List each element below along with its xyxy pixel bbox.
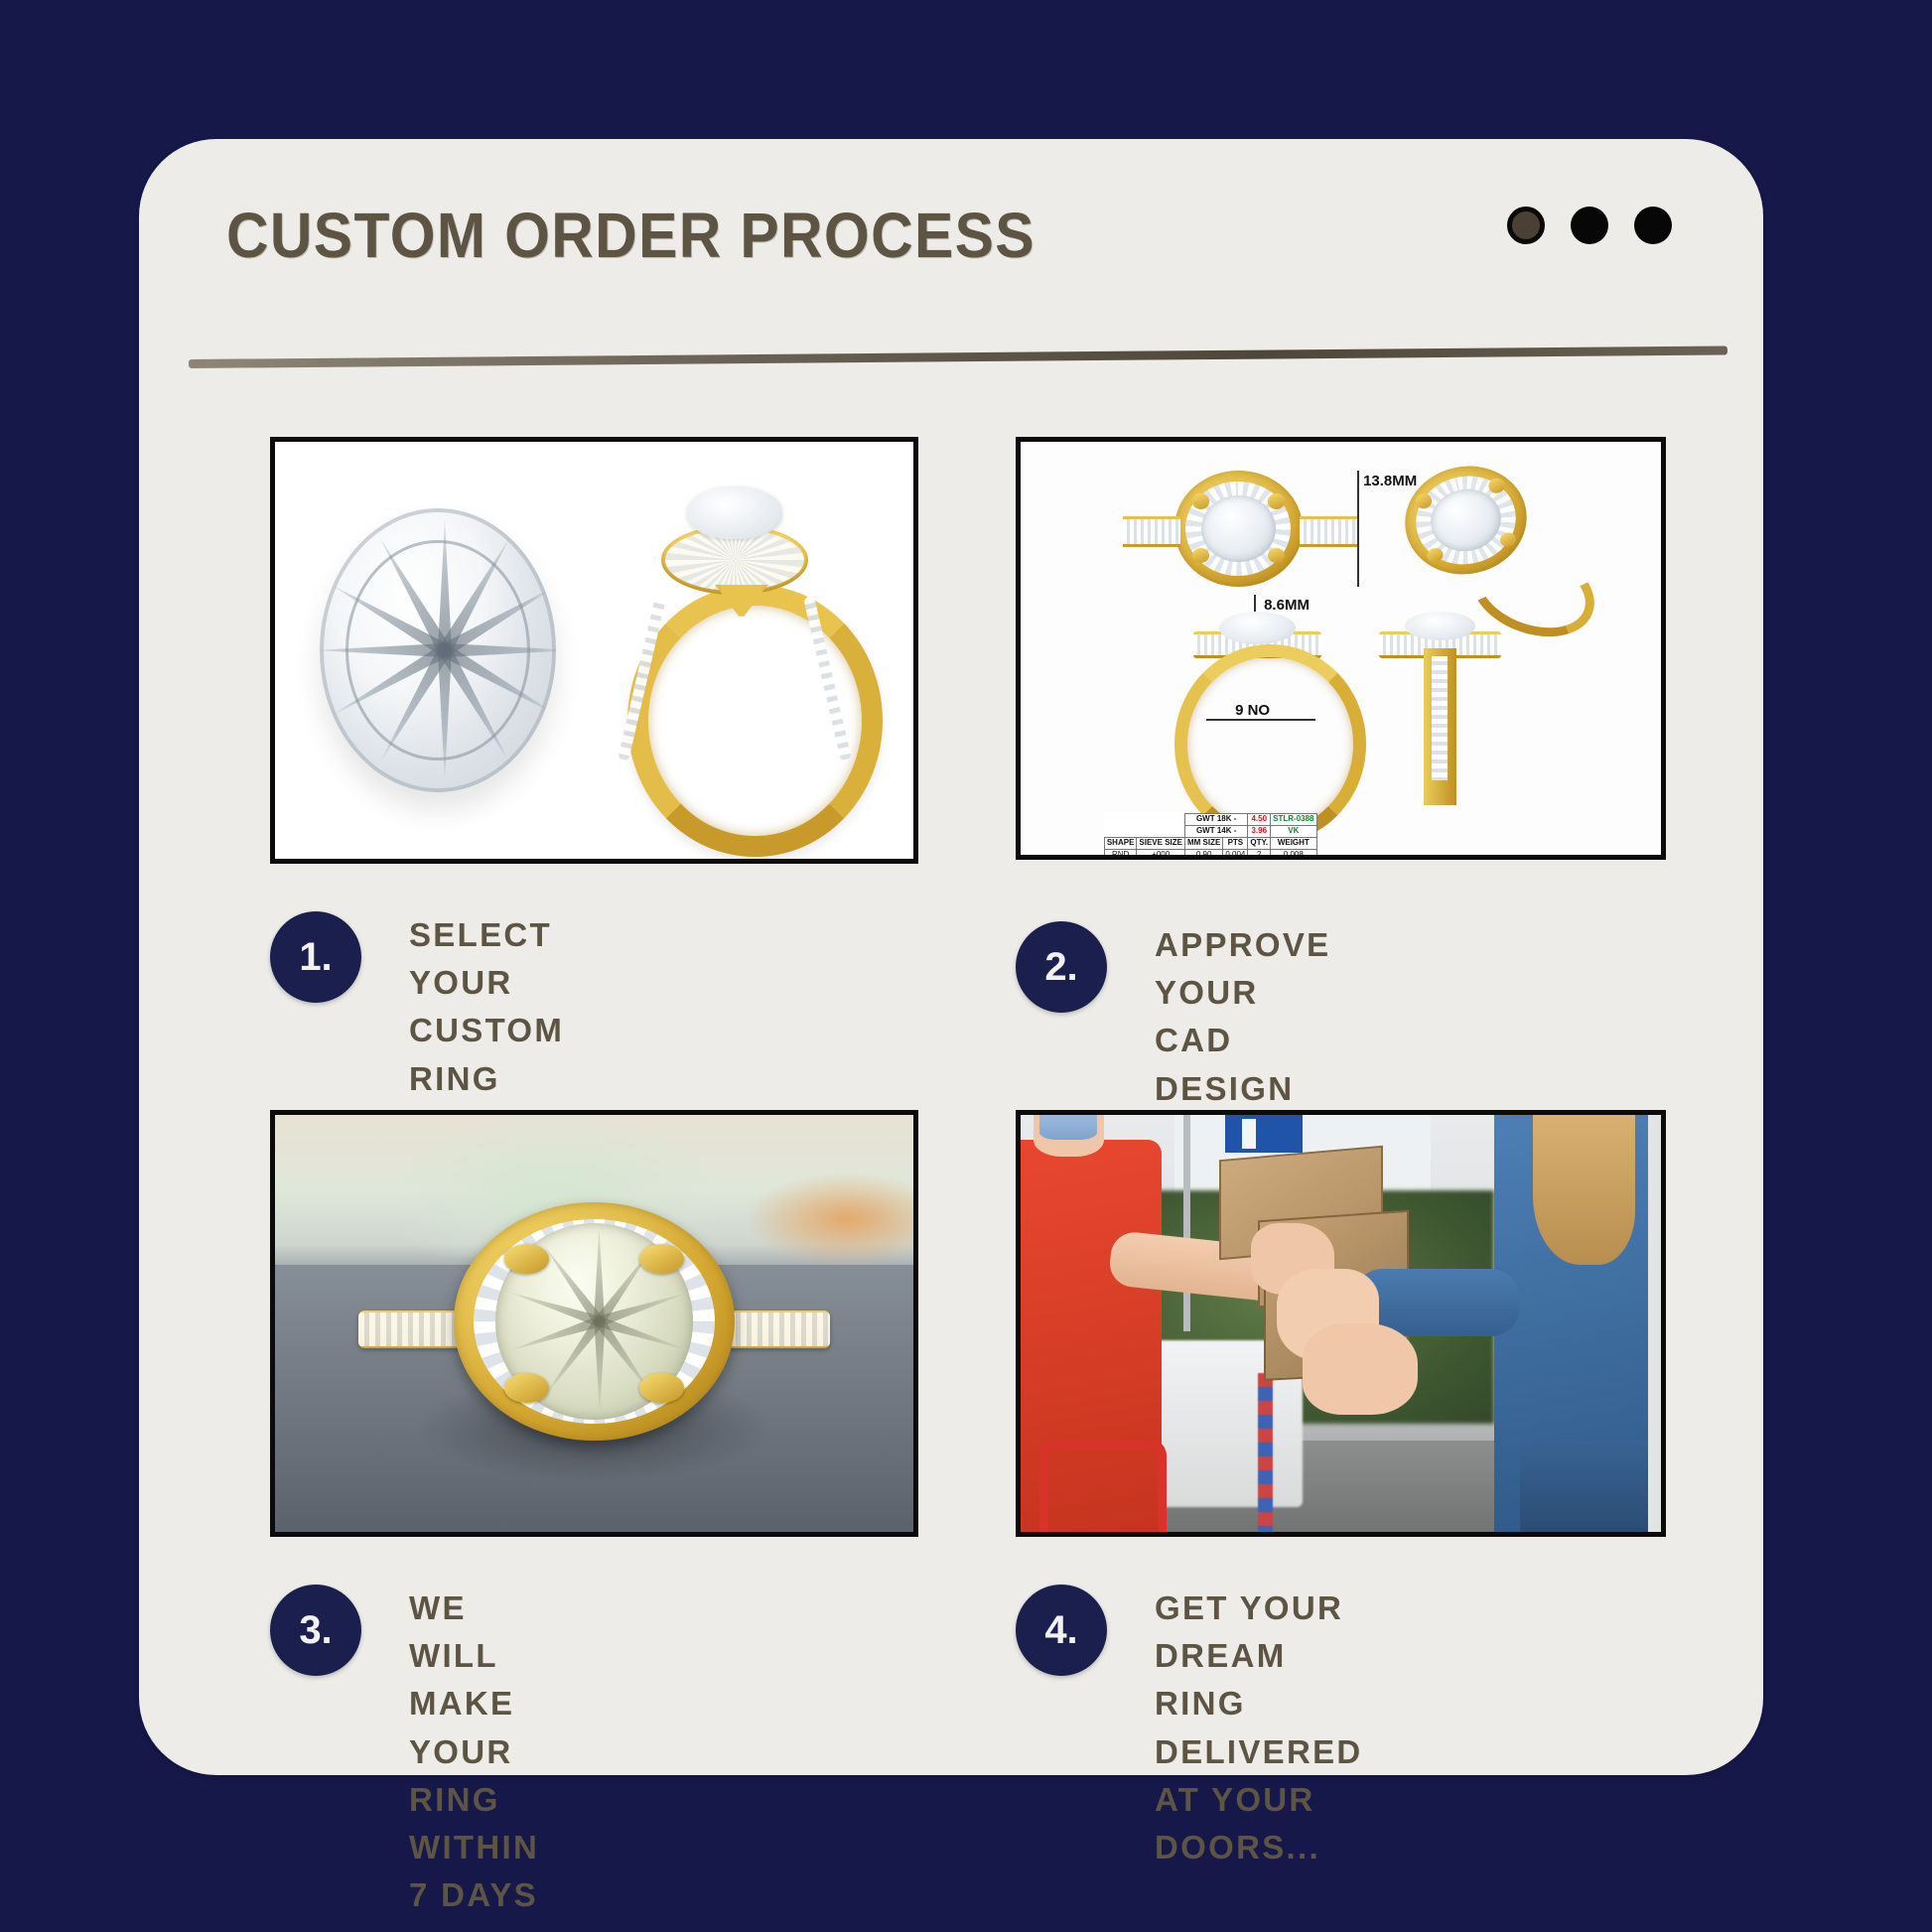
cad-cell: +000 bbox=[1137, 849, 1185, 860]
cad-side-gem-icon bbox=[1405, 612, 1475, 640]
step-4-label: GET YOUR DREAM RING DELIVERED AT YOUR DO… bbox=[1155, 1585, 1363, 1871]
cad-spec-weight-row-14k: GWT 14K - 3.96 VK bbox=[1104, 826, 1316, 838]
cad-size-label: 9 NO bbox=[1235, 702, 1270, 719]
cad-spec-table: GWT 18K - 4.50 STLR-0388 GWT 14K - 3.96 … bbox=[1104, 813, 1317, 860]
cad-dim-top-label: 13.8MM bbox=[1363, 473, 1417, 489]
process-card: CUSTOM ORDER PROCESS bbox=[139, 139, 1763, 1775]
step-1-badge: 1. bbox=[270, 911, 361, 1003]
step-3-label: WE WILL MAKE YOUR RING WITHIN 7 DAYS bbox=[409, 1585, 539, 1919]
diamond-ring-artwork bbox=[275, 442, 913, 859]
cad-side-pave-icon bbox=[1432, 656, 1447, 780]
cad-col-sieve: SIEVE SIZE bbox=[1137, 837, 1185, 849]
cad-style-code: STLR-0388 bbox=[1271, 814, 1316, 826]
diamond-and-ring-photo[interactable] bbox=[270, 437, 918, 864]
step-3-badge: 3. bbox=[270, 1585, 361, 1676]
cad-dim-mid-label: 8.6MM bbox=[1264, 597, 1310, 614]
cad-dim-mid-tick bbox=[1254, 595, 1256, 612]
cad-top-view-icon bbox=[1174, 471, 1303, 586]
delivery-handoff-photo[interactable] bbox=[1016, 1110, 1666, 1537]
cad-col-mmsize: MM SIZE bbox=[1184, 837, 1222, 849]
cad-gwt18k-value: 4.50 bbox=[1248, 814, 1271, 826]
cad-gwt18k-label: GWT 18K - bbox=[1184, 814, 1247, 826]
steps-grid: 1. SELECT YOUR CUSTOM RING DESIGN WITH A… bbox=[139, 139, 1763, 1775]
cad-cell: 2 bbox=[1248, 849, 1271, 860]
step-4-badge: 4. bbox=[1016, 1585, 1107, 1676]
cad-col-qty: QTY. bbox=[1248, 837, 1271, 849]
cad-col-weight: WEIGHT bbox=[1271, 837, 1316, 849]
cad-cell: 0.008 bbox=[1271, 849, 1316, 860]
step-2-caption: 2. APPROVE YOUR CAD DESIGN bbox=[1016, 921, 1330, 1113]
cad-cell: RND bbox=[1104, 849, 1137, 860]
cad-gwt14k-value: 3.96 bbox=[1248, 826, 1271, 838]
gold-halo-ring-icon bbox=[595, 480, 876, 830]
finished-ring-photo[interactable] bbox=[270, 1110, 918, 1537]
step-4-caption: 4. GET YOUR DREAM RING DELIVERED AT YOUR… bbox=[1016, 1585, 1363, 1871]
delivery-artwork bbox=[1021, 1115, 1661, 1532]
cad-col-shape: SHAPE bbox=[1104, 837, 1137, 849]
cad-initials: VK bbox=[1271, 826, 1316, 838]
cad-artwork: 13.8MM 8.6MM bbox=[1021, 442, 1661, 855]
cad-spec-table-body: GWT 18K - 4.50 STLR-0388 GWT 14K - 3.96 … bbox=[1104, 814, 1316, 860]
face-mask-icon bbox=[1039, 1115, 1097, 1140]
cad-spec-row: RND +000 0.90 0.004 2 0.008 bbox=[1104, 849, 1316, 860]
cad-design-sheet[interactable]: 13.8MM 8.6MM bbox=[1016, 437, 1666, 860]
step-2-badge: 2. bbox=[1016, 921, 1107, 1013]
cad-shank-left-icon bbox=[1123, 516, 1180, 547]
finished-ring-artwork bbox=[275, 1115, 913, 1532]
step-3-caption: 3. WE WILL MAKE YOUR RING WITHIN 7 DAYS bbox=[270, 1585, 539, 1919]
cad-gwt14k-label: GWT 14K - bbox=[1184, 826, 1247, 838]
cad-spec-weight-row-18k: GWT 18K - 4.50 STLR-0388 bbox=[1104, 814, 1316, 826]
loose-diamond-icon bbox=[320, 508, 556, 792]
cad-dim-vertical-line bbox=[1357, 471, 1359, 586]
cad-shank-right-icon bbox=[1300, 516, 1357, 547]
cad-cell: 0.004 bbox=[1223, 849, 1248, 860]
step-2-label: APPROVE YOUR CAD DESIGN bbox=[1155, 921, 1330, 1113]
cad-cell: 0.90 bbox=[1184, 849, 1222, 860]
hand-truck-icon bbox=[1039, 1440, 1167, 1532]
cad-front-gem-icon bbox=[1219, 612, 1296, 644]
cad-spec-header-row: SHAPE SIEVE SIZE MM SIZE PTS QTY. WEIGHT bbox=[1104, 837, 1316, 849]
cad-col-pts: PTS bbox=[1223, 837, 1248, 849]
poster-canvas: CUSTOM ORDER PROCESS bbox=[0, 0, 1932, 1932]
